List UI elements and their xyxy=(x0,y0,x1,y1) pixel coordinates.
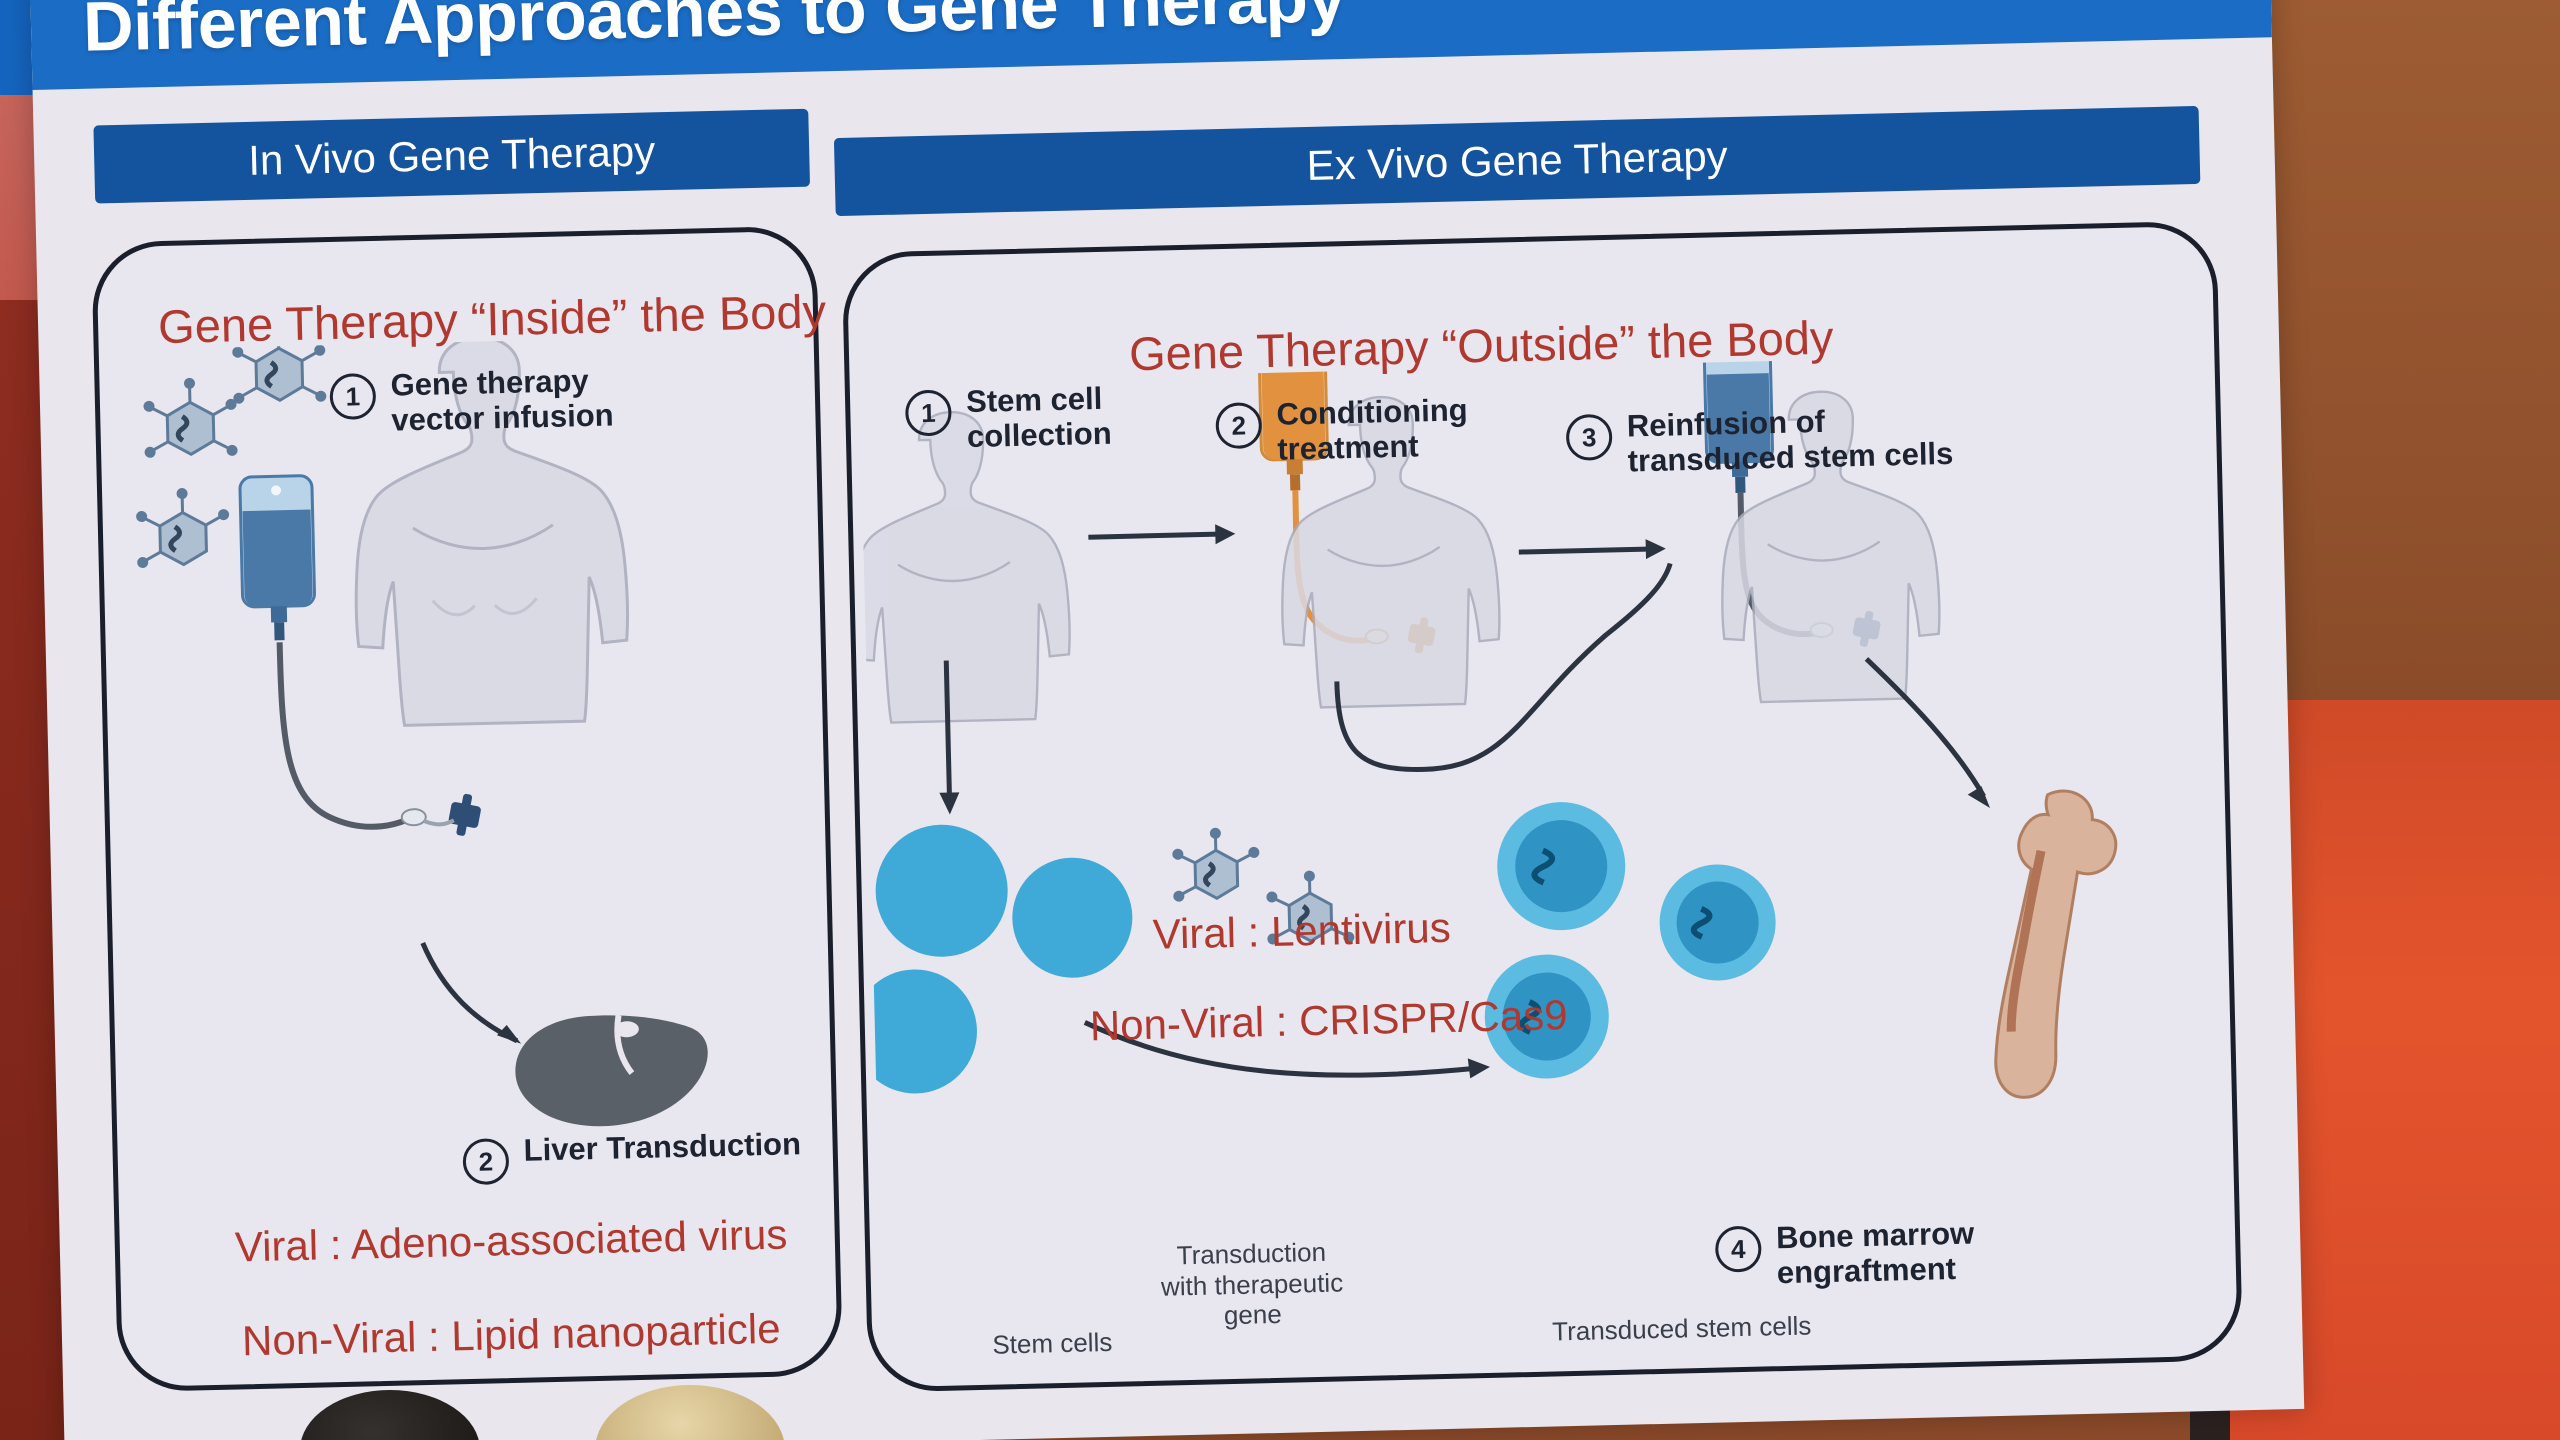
step-label: Stem cell collection xyxy=(966,382,1112,455)
slide-title-band: Different Approaches to Gene Therapy xyxy=(30,0,2272,90)
ex-vivo-artwork xyxy=(860,351,2243,1393)
in-vivo-artwork xyxy=(109,334,828,1150)
step-ex-vivo-3: 3 Reinfusion of transduced stem cells xyxy=(1566,402,1954,481)
caption-transduction: Transduction with therapeutic gene xyxy=(1160,1236,1344,1332)
step-label: Bone marrow engraftment xyxy=(1776,1217,1976,1291)
step-label: Liver Transduction xyxy=(523,1127,801,1168)
step-ex-vivo-4: 4 Bone marrow engraftment xyxy=(1715,1217,1976,1293)
caption-transduced-stem-cells: Transduced stem cells xyxy=(1552,1310,1812,1347)
column-header-in-vivo: In Vivo Gene Therapy xyxy=(93,109,810,204)
column-header-ex-vivo-label: Ex Vivo Gene Therapy xyxy=(1306,132,1728,190)
caption-stem-cells: Stem cells xyxy=(992,1327,1113,1360)
step-number-badge: 2 xyxy=(1215,402,1262,449)
column-header-in-vivo-label: In Vivo Gene Therapy xyxy=(248,127,656,185)
step-number-badge: 1 xyxy=(329,373,376,420)
step-number-badge: 4 xyxy=(1715,1226,1762,1273)
step-label: Conditioning treatment xyxy=(1276,393,1469,467)
step-in-vivo-1: 1 Gene therapy vector infusion xyxy=(329,363,614,439)
step-number-badge: 2 xyxy=(462,1138,509,1185)
step-ex-vivo-2: 2 Conditioning treatment xyxy=(1215,393,1469,468)
column-header-ex-vivo: Ex Vivo Gene Therapy xyxy=(834,106,2200,216)
step-number-badge: 3 xyxy=(1566,414,1613,461)
slide-title: Different Approaches to Gene Therapy xyxy=(82,0,1347,67)
step-label: Reinfusion of transduced stem cells xyxy=(1627,402,1954,479)
note-ex-vivo-viral: Viral : Lentivirus xyxy=(1152,904,1451,959)
step-label: Gene therapy vector infusion xyxy=(390,363,614,438)
step-ex-vivo-1: 1 Stem cell collection xyxy=(905,382,1112,456)
presentation-slide: Different Approaches to Gene Therapy In … xyxy=(30,0,2304,1440)
step-number-badge: 1 xyxy=(905,389,952,436)
step-in-vivo-2: 2 Liver Transduction xyxy=(462,1127,801,1185)
